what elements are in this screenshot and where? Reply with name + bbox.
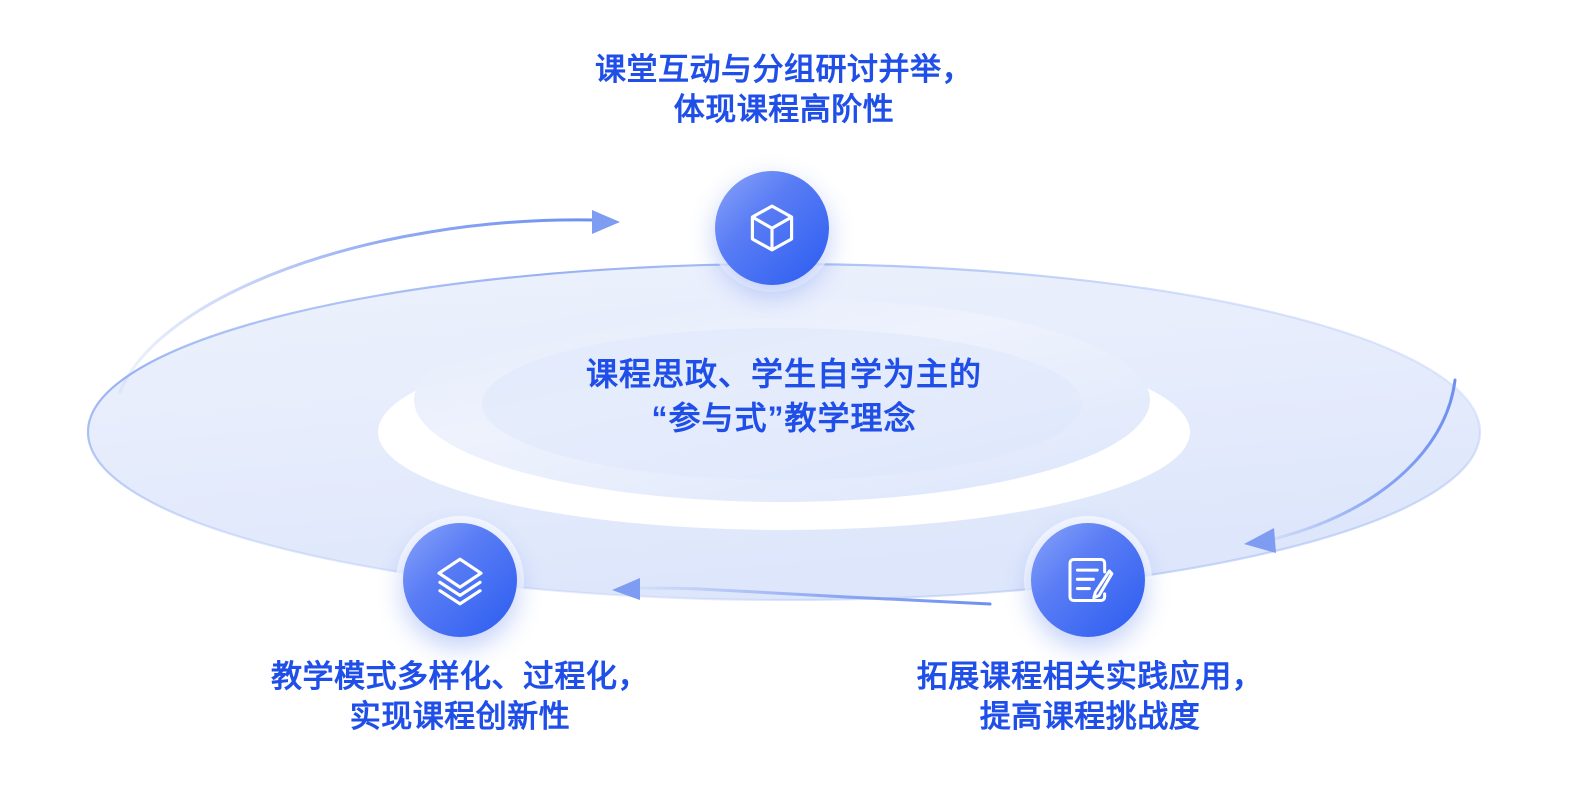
- cube-icon: [744, 200, 800, 256]
- center-label: 课程思政、学生自学为主的 “参与式”教学理念: [434, 352, 1134, 440]
- label-bottom-left: 教学模式多样化、过程化， 实现课程创新性: [160, 657, 760, 738]
- node-bottom-left[interactable]: [403, 523, 517, 637]
- node-bottom-right[interactable]: [1031, 523, 1145, 637]
- label-bottom-right: 拓展课程相关实践应用， 提高课程挑战度: [790, 657, 1390, 738]
- node-top[interactable]: [715, 171, 829, 285]
- diagram-canvas: 课堂互动与分组研讨并举， 体现课程高阶性 课程思政、学生自学为主的 “参与式”教…: [0, 0, 1592, 806]
- document-edit-icon: [1061, 553, 1115, 607]
- label-top: 课堂互动与分组研讨并举， 体现课程高阶性: [434, 50, 1134, 131]
- layers-icon: [432, 552, 488, 608]
